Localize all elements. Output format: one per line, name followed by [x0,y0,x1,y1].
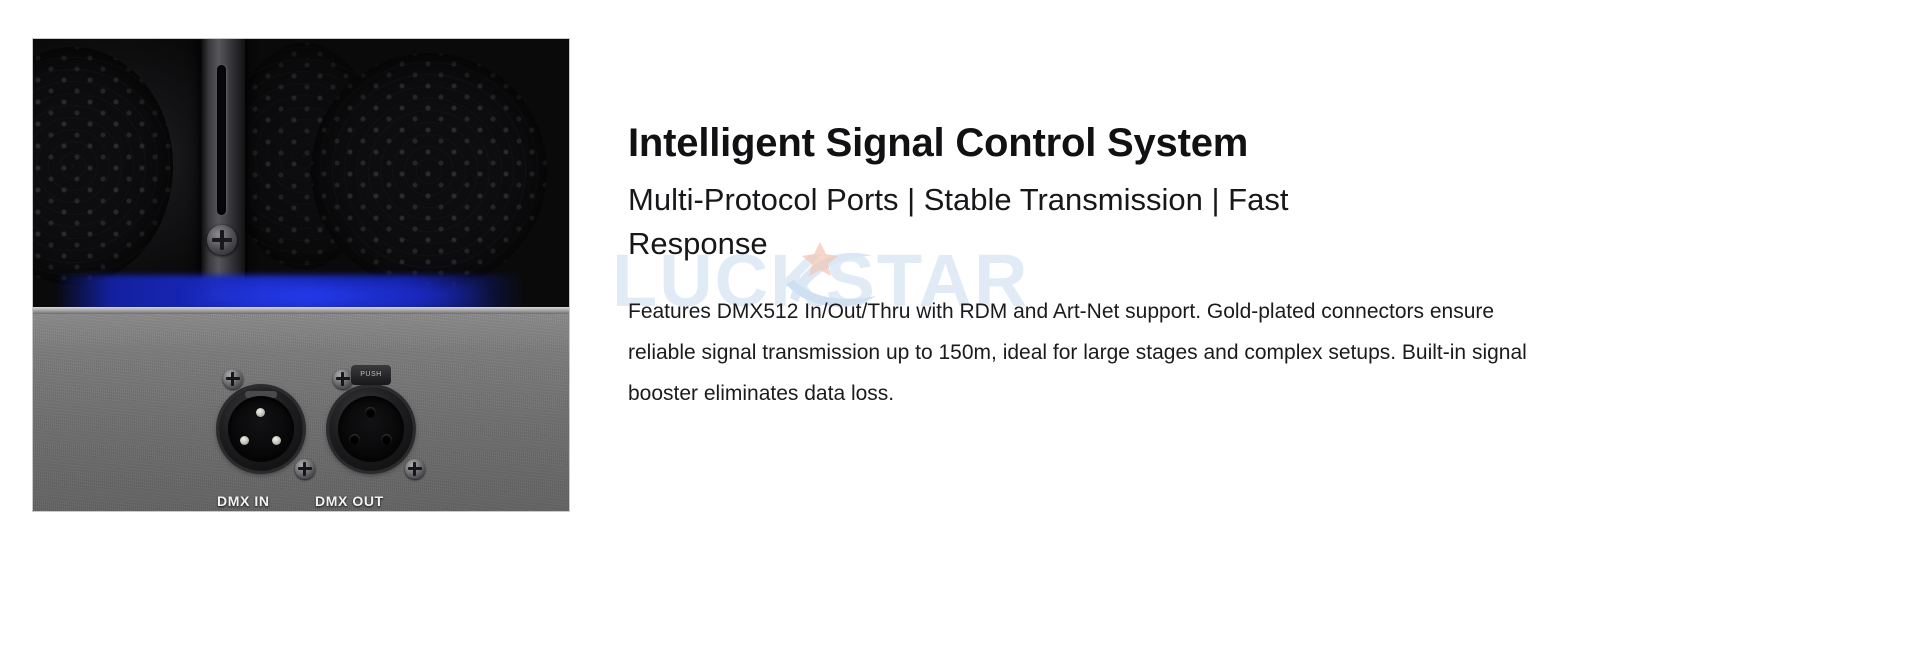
bracket-screw-icon [207,225,237,255]
xlr-hole-3 [365,407,376,418]
xlr-in-screw-bottom-icon [295,459,315,479]
xlr-hole-2 [381,434,392,445]
panel-top-edge [33,307,569,314]
rear-panel: PUSH DMX IN DMX OUT [33,307,569,511]
mounting-bracket [201,39,245,301]
port-label-dmx-in: DMX IN [217,493,270,509]
description-paragraph: Features DMX512 In/Out/Thru with RDM and… [628,292,1546,415]
blue-led-glow-core [183,285,493,307]
product-photo-canvas: PUSH DMX IN DMX OUT [33,39,569,511]
xlr-bore-out [338,396,404,462]
xlr-out-screw-bottom-icon [405,459,425,479]
xlr-connector-dmx-out [329,387,413,471]
honeycomb-grille-right-icon [311,53,547,289]
product-feature-banner: PUSH DMX IN DMX OUT LUCKSTAR Intelligent… [0,0,1920,662]
honeycomb-grille-left-icon [33,47,173,285]
fixture-housing [33,39,569,297]
page-title: Intelligent Signal Control System [628,120,1888,166]
xlr-pin-2 [272,436,281,445]
product-photo: PUSH DMX IN DMX OUT [32,38,570,512]
push-release-tab: PUSH [351,365,391,385]
feature-text-block: Intelligent Signal Control System Multi-… [628,120,1888,415]
xlr-out-screw-top-icon [333,369,353,389]
xlr-connector-dmx-in [219,387,303,471]
xlr-in-screw-top-icon [223,369,243,389]
xlr-bore-in [228,396,294,462]
xlr-pin-1 [240,436,249,445]
xlr-pin-3 [256,408,265,417]
xlr-hole-1 [349,434,360,445]
port-label-dmx-out: DMX OUT [315,493,384,509]
bracket-slot [217,65,226,215]
subtitle: Multi-Protocol Ports | Stable Transmissi… [628,178,1348,266]
